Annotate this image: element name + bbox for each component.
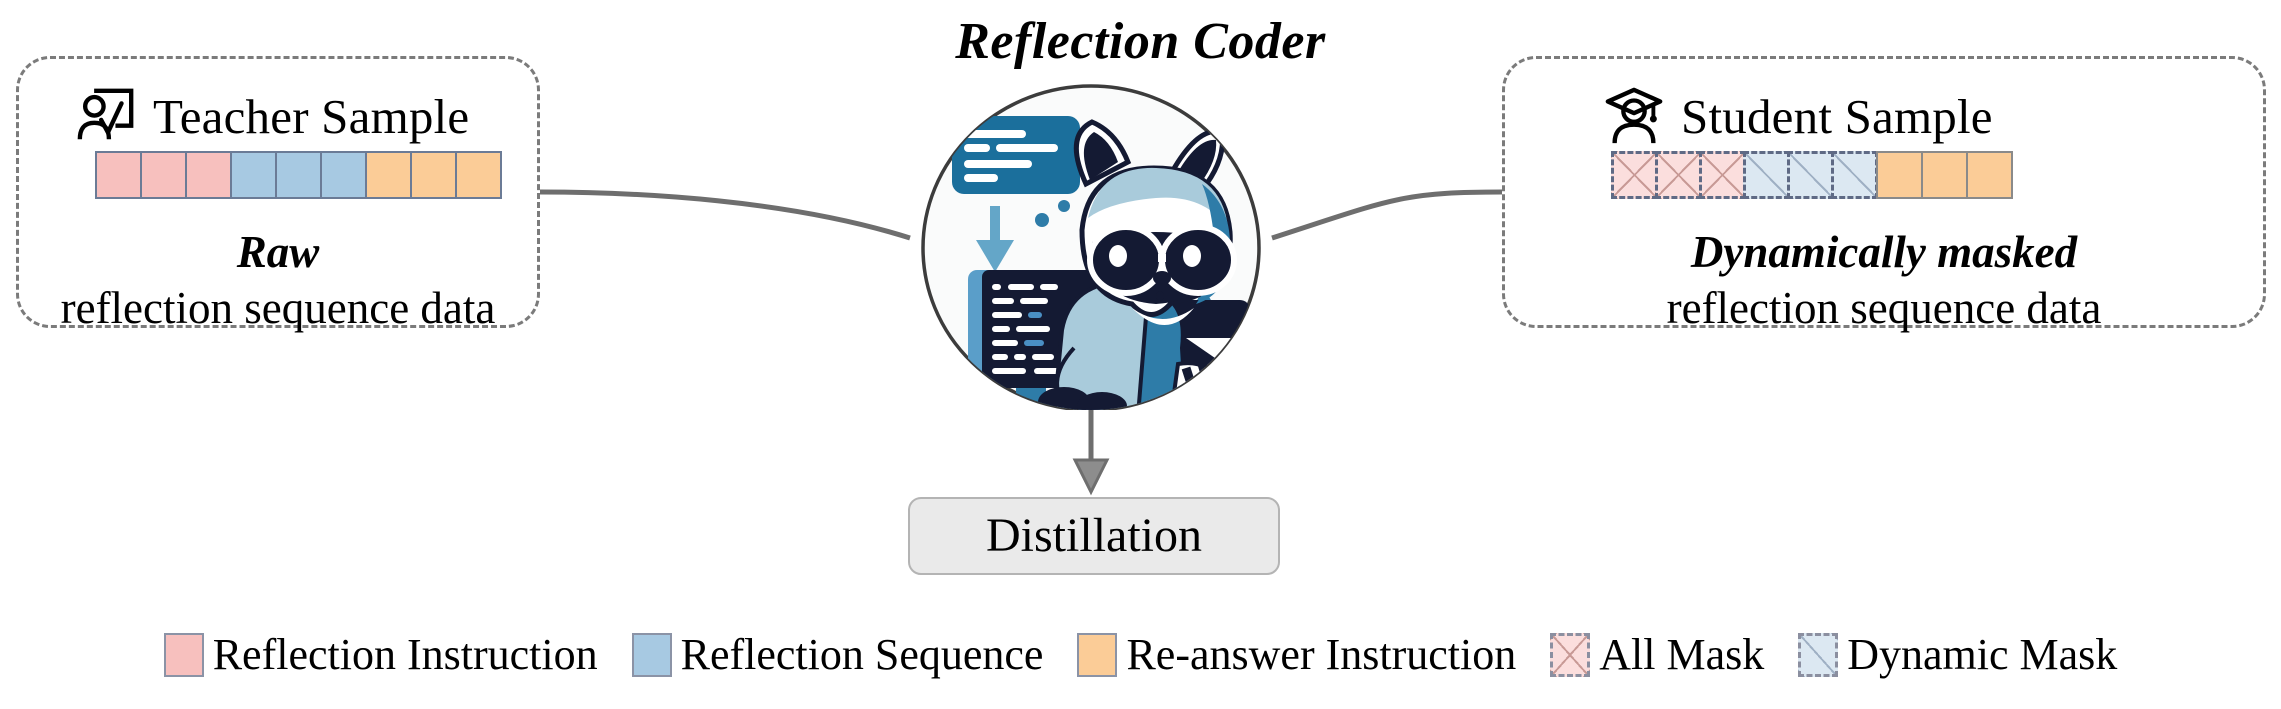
arrow-down-icon xyxy=(1075,407,1107,492)
token-cell-reflection-instruction xyxy=(95,151,142,199)
token-cell-re-answer-instruction xyxy=(455,151,502,199)
page-title: Reflection Coder xyxy=(0,12,2281,71)
teacher-caption: Raw reflection sequence data xyxy=(19,227,537,334)
token-cell-re-answer-instruction xyxy=(1876,151,1923,199)
token-cell-reflection-instruction xyxy=(185,151,232,199)
token-cell-reflection-sequence xyxy=(275,151,322,199)
legend-swatch xyxy=(1550,633,1590,677)
token-cell-dynamic-mask xyxy=(1787,151,1834,199)
student-panel-title: Student Sample xyxy=(1681,92,1993,141)
legend-item: All Mask xyxy=(1550,633,1764,677)
legend-label: Reflection Sequence xyxy=(681,633,1044,677)
student-graduate-icon xyxy=(1603,85,1665,147)
legend-label: Reflection Instruction xyxy=(213,633,598,677)
token-cell-reflection-sequence xyxy=(320,151,367,199)
distillation-box[interactable]: Distillation xyxy=(908,497,1280,575)
raccoon-coder-mascot xyxy=(886,80,1296,410)
legend-label: Re-answer Instruction xyxy=(1126,633,1516,677)
student-sample-panel: Student Sample Dynamically masked reflec… xyxy=(1502,56,2266,328)
teacher-caption-strong: Raw xyxy=(19,227,537,277)
token-cell-re-answer-instruction xyxy=(365,151,412,199)
token-cell-re-answer-instruction xyxy=(1921,151,1968,199)
legend-item: Reflection Sequence xyxy=(632,633,1044,677)
legend-swatch xyxy=(1798,633,1838,677)
token-cell-re-answer-instruction xyxy=(410,151,457,199)
teacher-panel-title: Teacher Sample xyxy=(153,92,469,141)
token-cell-reflection-instruction xyxy=(140,151,187,199)
token-cell-all-mask xyxy=(1655,151,1702,199)
student-caption-plain: reflection sequence data xyxy=(1505,283,2263,333)
token-cell-all-mask xyxy=(1611,151,1658,199)
student-token-strip xyxy=(1611,151,2013,199)
student-panel-header: Student Sample xyxy=(1603,85,1993,147)
teacher-sample-panel: Teacher Sample Raw reflection sequence d… xyxy=(16,56,540,328)
legend-item: Re-answer Instruction xyxy=(1077,633,1516,677)
legend-item: Dynamic Mask xyxy=(1798,633,2117,677)
teacher-check-icon xyxy=(75,85,137,147)
token-cell-dynamic-mask xyxy=(1743,151,1790,199)
teacher-caption-plain: reflection sequence data xyxy=(19,283,537,333)
token-cell-re-answer-instruction xyxy=(1966,151,2013,199)
teacher-panel-header: Teacher Sample xyxy=(75,85,469,147)
legend-label: All Mask xyxy=(1599,633,1764,677)
token-cell-reflection-sequence xyxy=(230,151,277,199)
figure-canvas: Reflection Coder xyxy=(0,0,2281,709)
student-caption: Dynamically masked reflection sequence d… xyxy=(1505,227,2263,334)
legend-swatch xyxy=(164,633,204,677)
legend-label: Dynamic Mask xyxy=(1847,633,2117,677)
legend-swatch xyxy=(1077,633,1117,677)
legend: Reflection InstructionReflection Sequenc… xyxy=(0,620,2281,690)
distillation-label: Distillation xyxy=(986,512,1202,560)
connector-teacher-to-center xyxy=(540,192,910,238)
legend-item: Reflection Instruction xyxy=(164,633,598,677)
token-cell-all-mask xyxy=(1699,151,1746,199)
legend-swatch xyxy=(632,633,672,677)
student-caption-strong: Dynamically masked xyxy=(1505,227,2263,277)
teacher-token-strip xyxy=(95,151,502,199)
connector-student-to-center xyxy=(1272,192,1502,238)
token-cell-dynamic-mask xyxy=(1831,151,1878,199)
